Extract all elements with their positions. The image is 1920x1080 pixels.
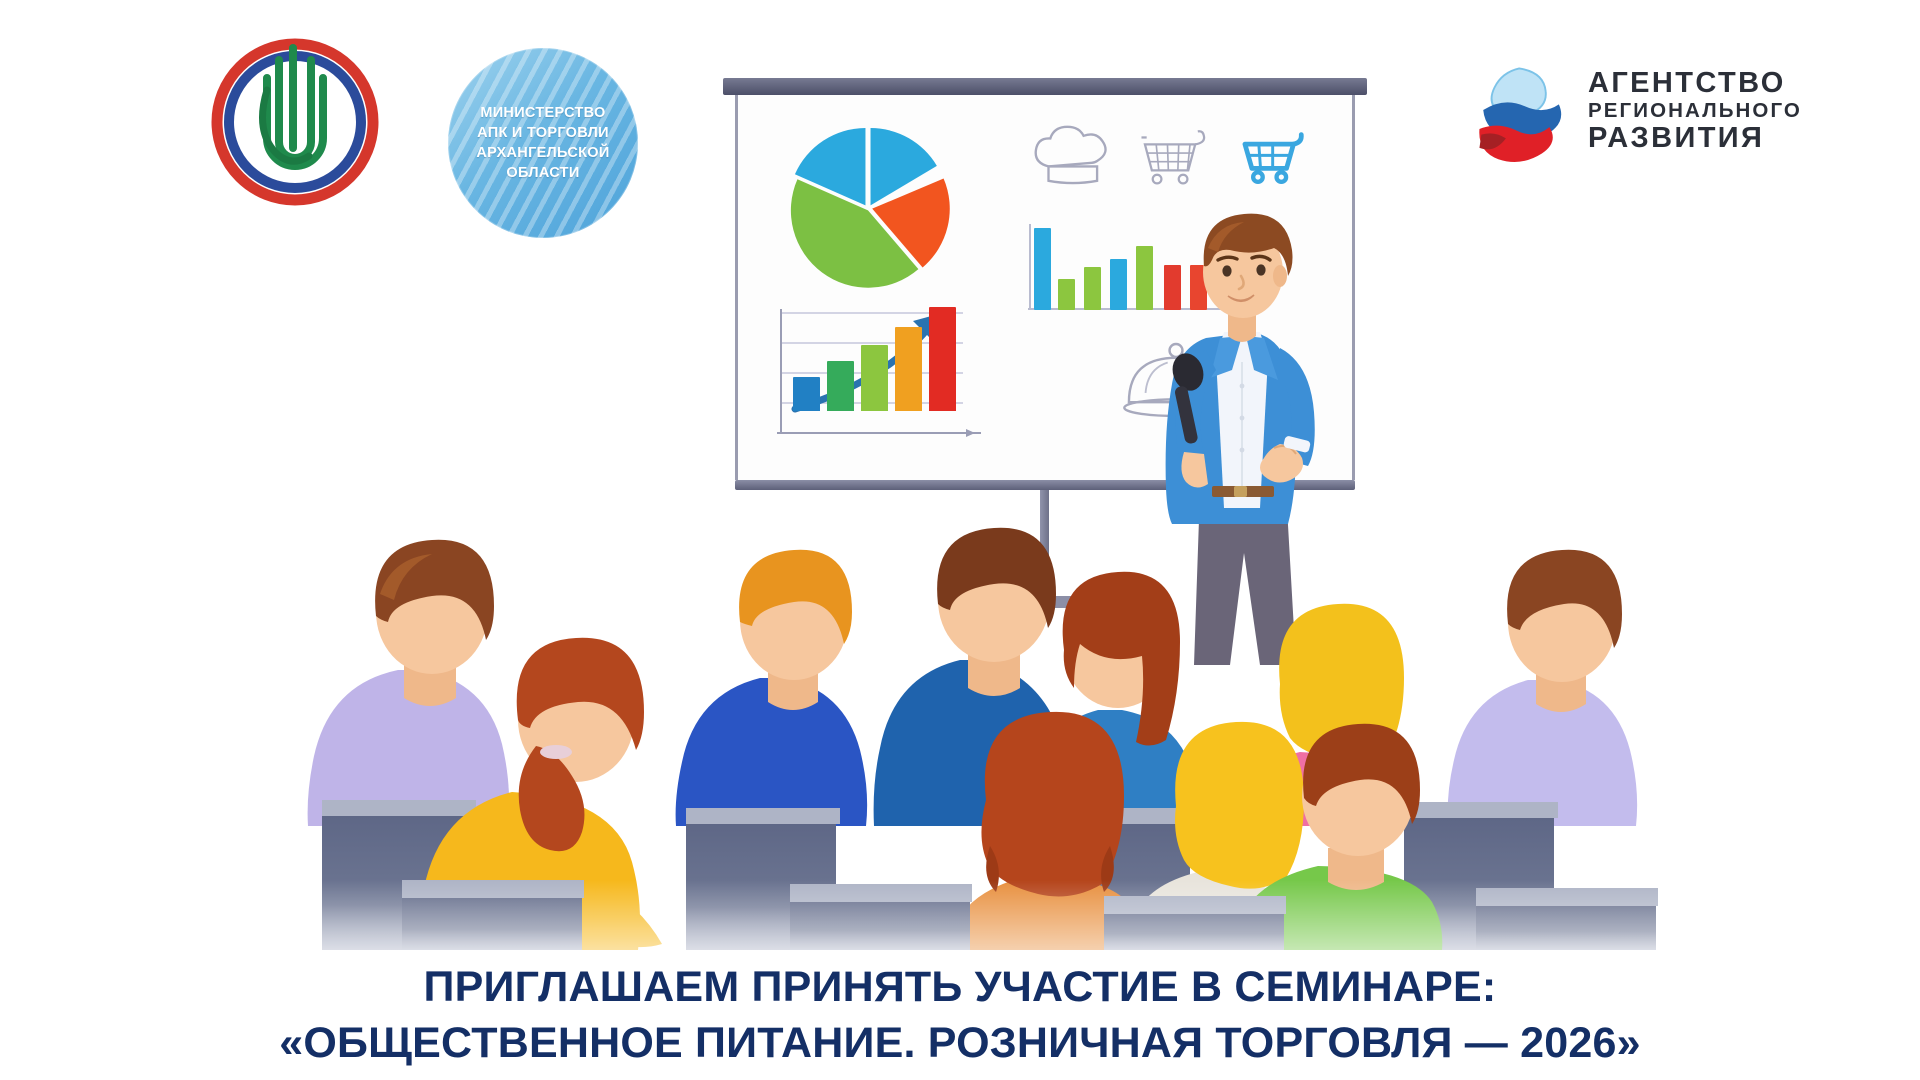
audience-figures: [0, 470, 1920, 950]
agency-line-3: РАЗВИТИЯ: [1588, 123, 1802, 154]
chef-hat-icon: [1030, 125, 1112, 197]
attendee-1: [308, 540, 510, 826]
title-line-2: «ОБЩЕСТВЕННОЕ ПИТАНИЕ. РОЗНИЧНАЯ ТОРГОВЛ…: [0, 1016, 1920, 1072]
mini-bar: [1110, 259, 1127, 310]
ministry-line-1: МИНИСТЕРСТВО: [476, 103, 609, 123]
shopping-cart-icon: [1138, 123, 1216, 197]
page-title: ПРИГЛАШАЕМ ПРИНЯТЬ УЧАСТИЕ В СЕМИНАРЕ: «…: [0, 960, 1920, 1072]
ministry-line-4: ОБЛАСТИ: [476, 163, 609, 183]
agency-line-1: АГЕНТСТВО: [1588, 68, 1802, 98]
ministry-badge-circle: МИНИСТЕРСТВО АПК И ТОРГОВЛИ АРХАНГЕЛЬСКО…: [448, 48, 638, 238]
seated-audience: [0, 470, 1920, 950]
poster-canvas: МИНИСТЕРСТВО АПК И ТОРГОВЛИ АРХАНГЕЛЬСКО…: [0, 0, 1920, 1080]
growth-bar: [895, 327, 922, 411]
pie-chart: [784, 123, 952, 291]
mini-bar: [1058, 279, 1075, 310]
mini-bar: [1084, 267, 1101, 310]
pie-chart-svg: [784, 123, 952, 291]
growth-bar: [793, 377, 820, 411]
ministry-line-2: АПК И ТОРГОВЛИ: [476, 123, 609, 143]
growth-bar: [861, 345, 888, 411]
ministry-badge-logo: МИНИСТЕРСТВО АПК И ТОРГОВЛИ АРХАНГЕЛЬСКО…: [448, 48, 638, 238]
attendee-10: [1448, 550, 1638, 826]
growth-bar: [827, 361, 854, 411]
ministry-badge-text: МИНИСТЕРСТВО АПК И ТОРГОВЛИ АРХАНГЕЛЬСКО…: [468, 103, 617, 183]
title-line-1: ПРИГЛАШАЕМ ПРИНЯТЬ УЧАСТИЕ В СЕМИНАРЕ:: [0, 960, 1920, 1016]
ministry-line-3: АРХАНГЕЛЬСКОЙ: [476, 143, 609, 163]
attendee-3: [676, 550, 868, 826]
agency-mark-icon: [1470, 59, 1574, 163]
growth-bar: [929, 307, 956, 411]
agency-logo-text: АГЕНТСТВО РЕГИОНАЛЬНОГО РАЗВИТИЯ: [1588, 68, 1802, 154]
mini-bar: [1034, 228, 1051, 310]
screen-top-bar: [723, 78, 1367, 95]
minfin-emblem-icon: [205, 30, 385, 210]
minfin-emblem-logo: [205, 30, 385, 210]
agency-line-2: РЕГИОНАЛЬНОГО: [1588, 98, 1802, 123]
agency-logo: АГЕНТСТВО РЕГИОНАЛЬНОГО РАЗВИТИЯ: [1470, 48, 1830, 173]
growth-bar-chart: [763, 305, 1008, 455]
shopping-cart-icon: [1238, 121, 1316, 195]
